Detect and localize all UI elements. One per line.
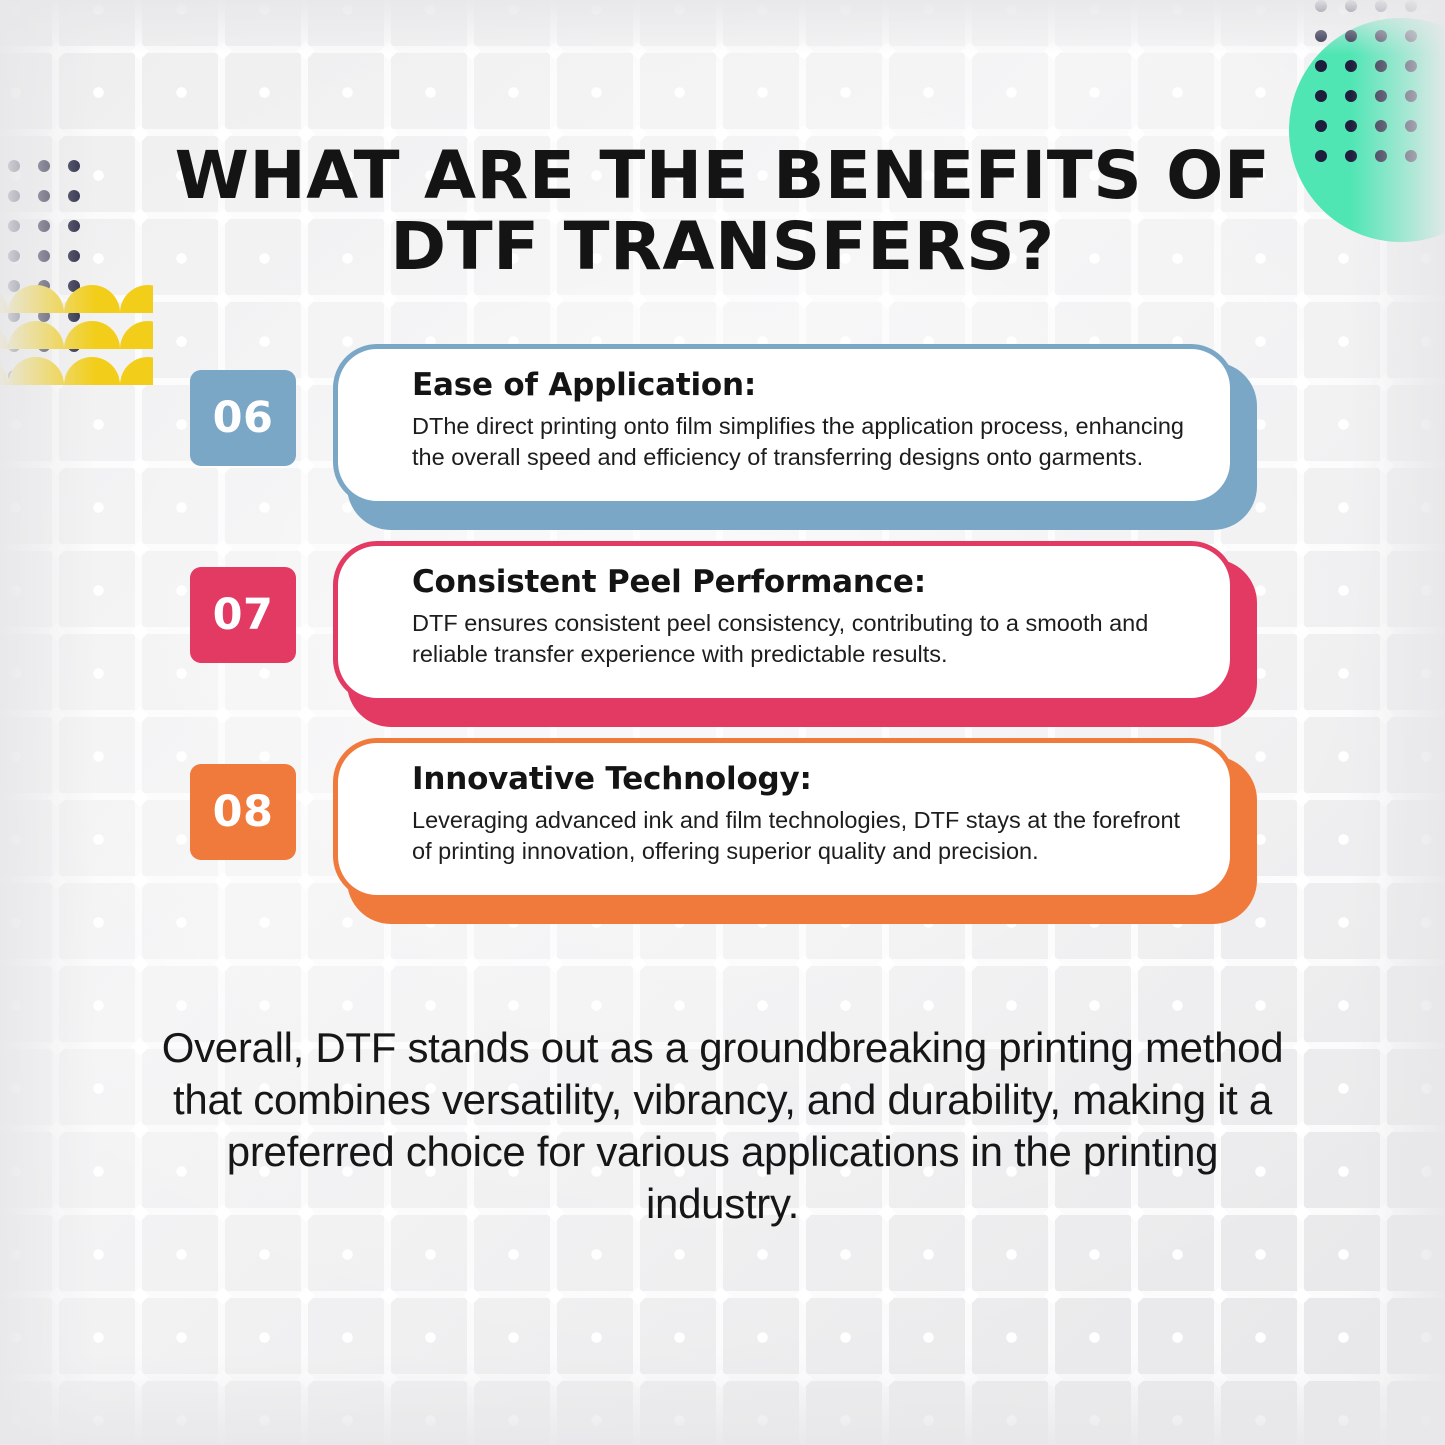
benefit-card-title: Consistent Peel Performance: [412, 564, 1190, 600]
decorative-dot [68, 160, 80, 172]
decorative-dot [1375, 60, 1387, 72]
benefit-number-badge: 08 [190, 764, 296, 860]
decorative-dot [68, 220, 80, 232]
benefit-number-badge: 06 [190, 370, 296, 466]
decorative-dot [1315, 30, 1327, 42]
decorative-dot [8, 160, 20, 172]
decorative-dot [1405, 150, 1417, 162]
decorative-dot [1375, 0, 1387, 12]
dot-grid-top-right-decoration [1315, 0, 1445, 180]
decorative-dot [38, 250, 50, 262]
yellow-semicircle [120, 285, 153, 313]
decorative-dot [38, 190, 50, 202]
yellow-semicircle [0, 285, 8, 313]
benefit-card-body: DTF ensures consistent peel consistency,… [412, 608, 1190, 670]
decorative-dot [68, 250, 80, 262]
decorative-dot [1315, 90, 1327, 102]
decorative-dot [1345, 0, 1357, 12]
benefit-card-body: Leveraging advanced ink and film technol… [412, 805, 1190, 867]
decorative-dot [1375, 90, 1387, 102]
decorative-dot [1405, 30, 1417, 42]
decorative-dot [8, 220, 20, 232]
benefit-card[interactable]: Consistent Peel Performance: DTF ensures… [333, 541, 1235, 703]
decorative-dot [1345, 150, 1357, 162]
benefit-card-list: 06 Ease of Application: DThe direct prin… [0, 340, 1445, 931]
decorative-dot [38, 160, 50, 172]
decorative-dot [1375, 30, 1387, 42]
decorative-dot [1315, 60, 1327, 72]
benefit-card-row: 07 Consistent Peel Performance: DTF ensu… [0, 537, 1445, 734]
benefit-card[interactable]: Innovative Technology: Leveraging advanc… [333, 738, 1235, 900]
summary-paragraph: Overall, DTF stands out as a groundbreak… [155, 1022, 1290, 1230]
benefit-card-body: DThe direct printing onto film simplifie… [412, 411, 1190, 473]
decorative-dot [1345, 30, 1357, 42]
decorative-dot [1405, 60, 1417, 72]
decorative-dot [1345, 120, 1357, 132]
decorative-dot [8, 250, 20, 262]
benefit-number-badge: 07 [190, 567, 296, 663]
decorative-dot [38, 220, 50, 232]
yellow-semicircle [64, 285, 120, 313]
benefit-card[interactable]: Ease of Application: DThe direct printin… [333, 344, 1235, 506]
decorative-dot [68, 190, 80, 202]
yellow-semicircle [8, 285, 64, 313]
decorative-dot [1375, 120, 1387, 132]
decorative-dot [1405, 0, 1417, 12]
decorative-dot [1315, 120, 1327, 132]
benefit-card-title: Innovative Technology: [412, 761, 1190, 797]
decorative-dot [1315, 0, 1327, 12]
decorative-dot [1405, 90, 1417, 102]
decorative-dot [1405, 120, 1417, 132]
benefit-card-row: 06 Ease of Application: DThe direct prin… [0, 340, 1445, 537]
decorative-dot [8, 190, 20, 202]
decorative-dot [1375, 150, 1387, 162]
benefit-card-row: 08 Innovative Technology: Leveraging adv… [0, 734, 1445, 931]
benefit-card-title: Ease of Application: [412, 367, 1190, 403]
decorative-dot [1345, 60, 1357, 72]
infographic-poster: WHAT ARE THE BENEFITS OF DTF TRANSFERS? … [0, 0, 1445, 1445]
decorative-dot [1345, 90, 1357, 102]
page-title: WHAT ARE THE BENEFITS OF DTF TRANSFERS? [139, 140, 1307, 283]
decorative-dot [1315, 150, 1327, 162]
